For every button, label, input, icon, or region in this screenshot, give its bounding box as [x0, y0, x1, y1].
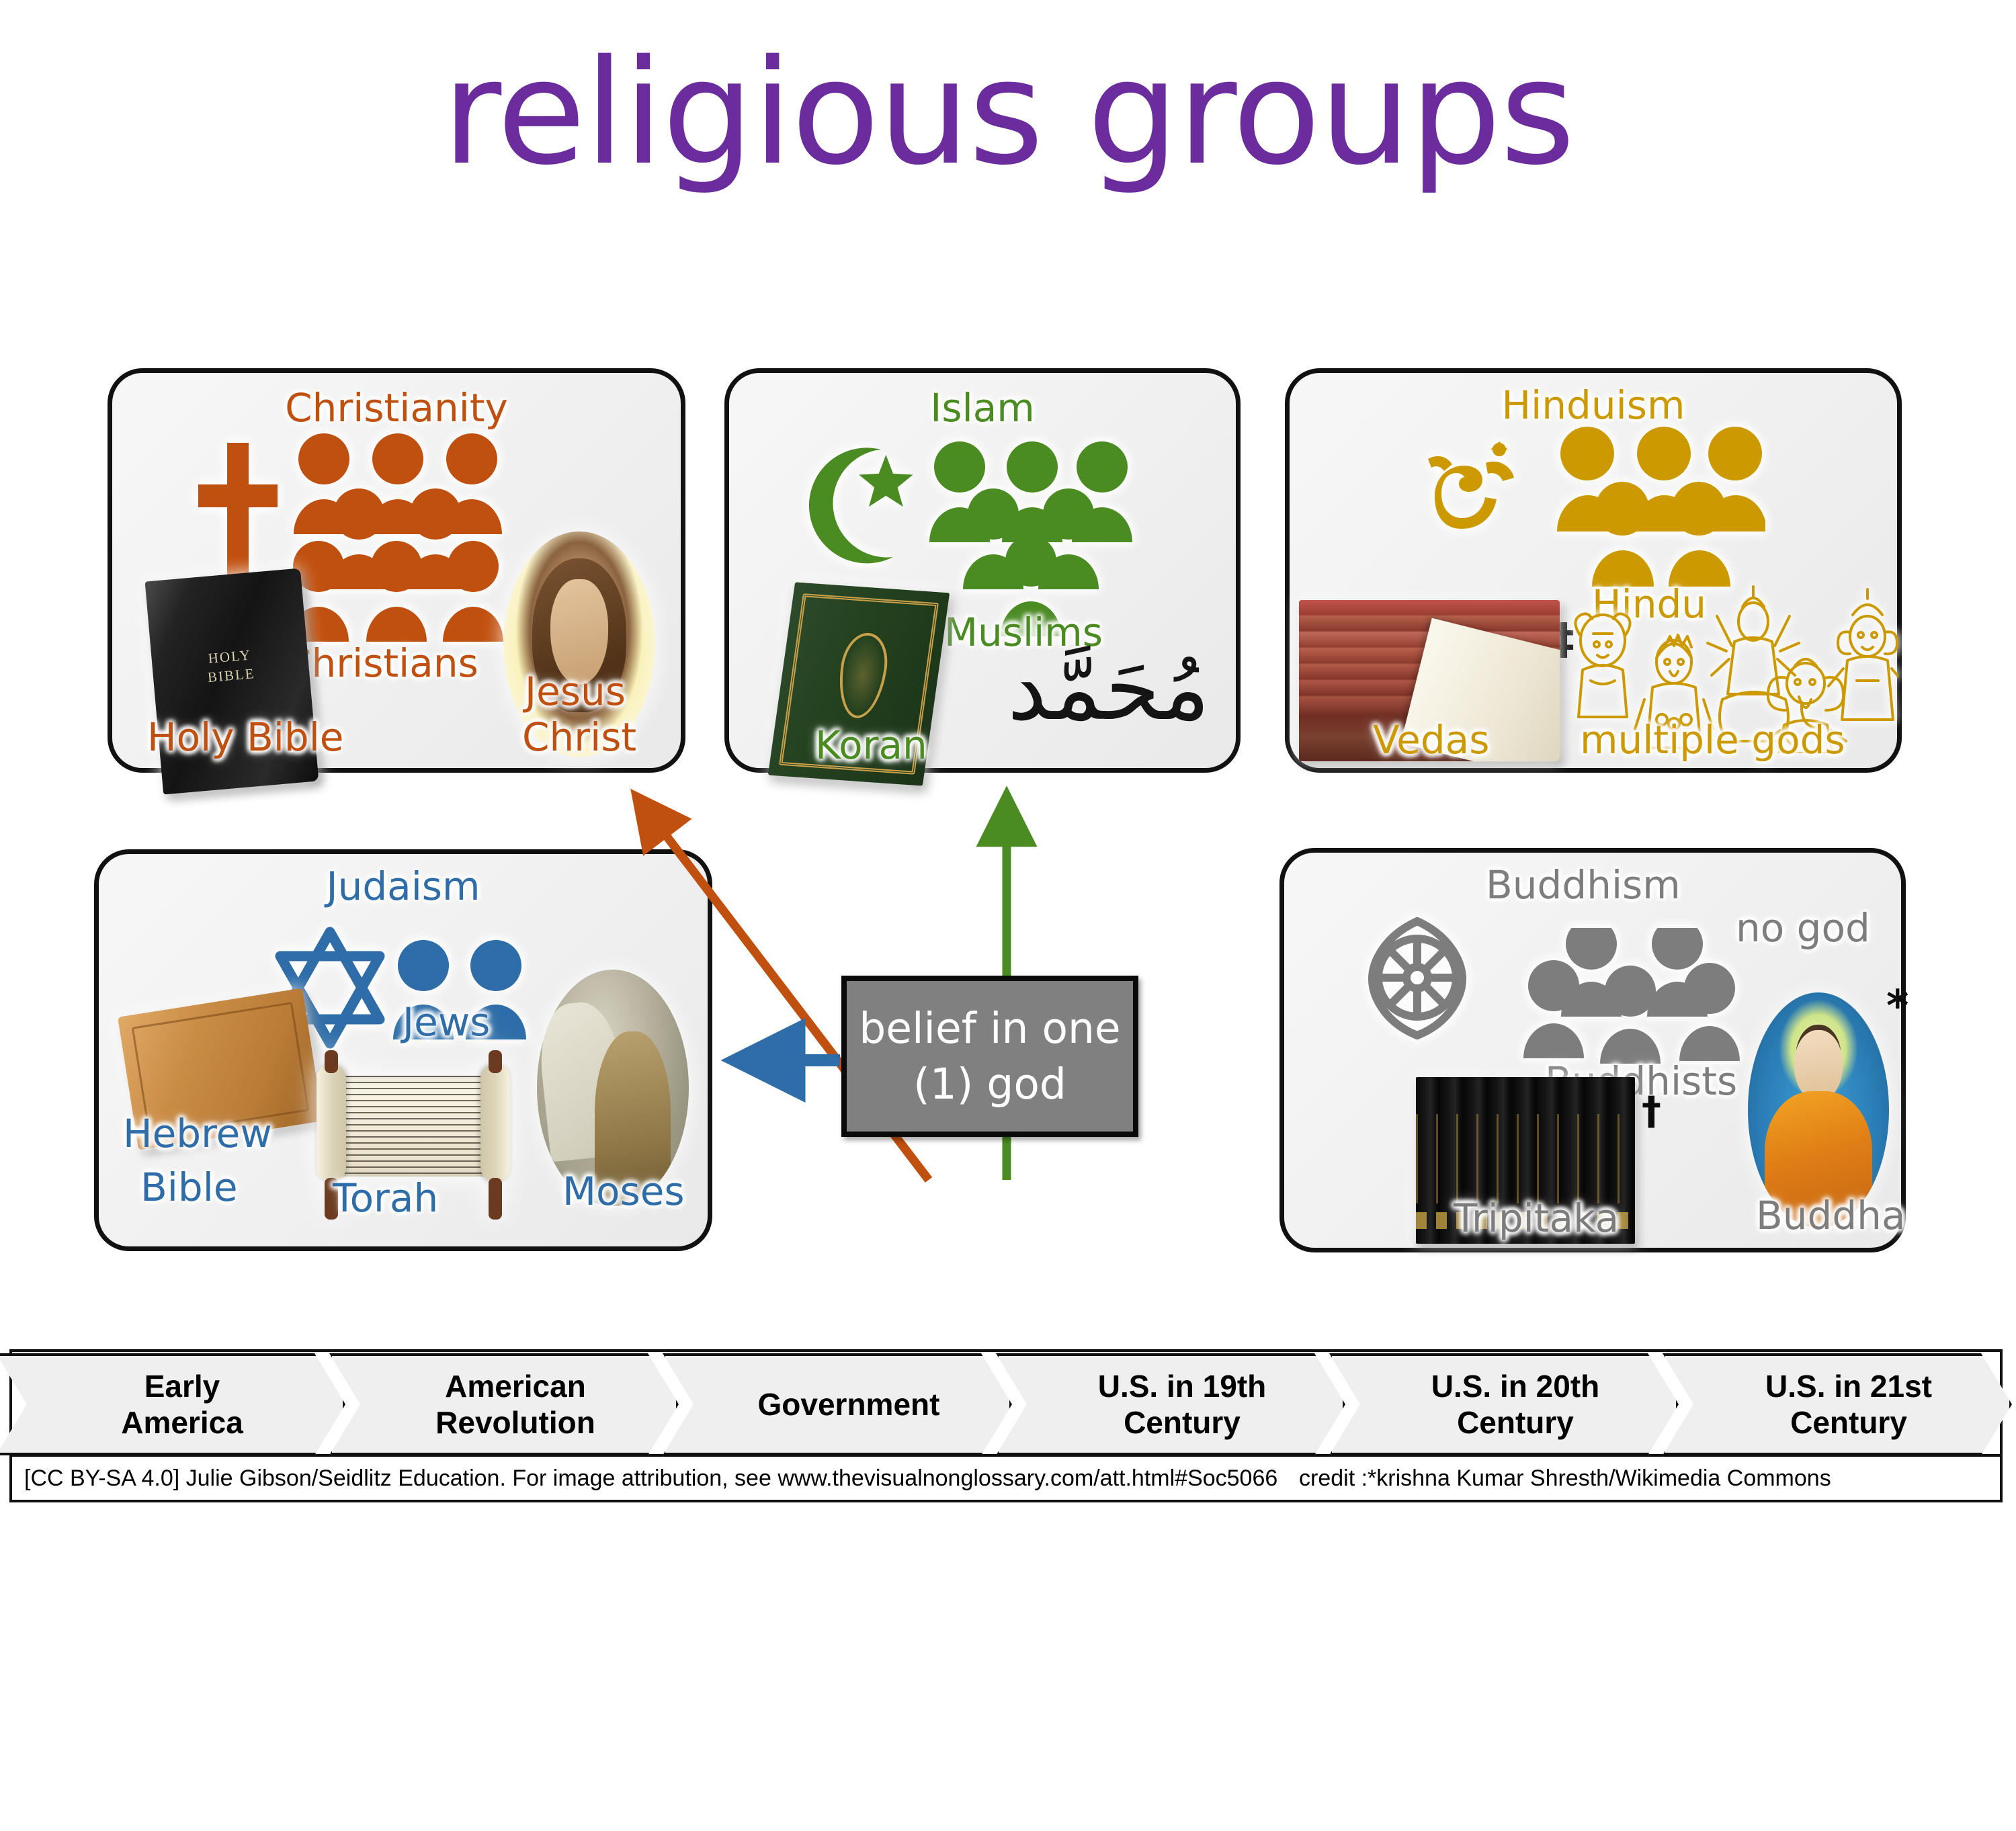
- nav-step-early-america[interactable]: Early America: [0, 1353, 345, 1455]
- card-title-christianity: Christianity: [285, 385, 508, 431]
- nav-step-us-19th-century[interactable]: U.S. in 19th Century: [996, 1353, 1345, 1455]
- nav-step-government[interactable]: Government: [663, 1353, 1012, 1455]
- item-label-buddha: Buddha: [1756, 1193, 1905, 1238]
- nav-step-us-21st-century[interactable]: U.S. in 21st Century: [1663, 1353, 2012, 1455]
- card-title-hinduism: Hinduism: [1502, 382, 1685, 428]
- footer-overlap-credit: credit :*krishna Kumar Shresth/Wikimedia…: [1299, 1465, 1831, 1492]
- nav-step-label-line1: Government: [758, 1386, 940, 1422]
- nav-step-label-line1: U.S. in 19th: [1098, 1368, 1266, 1404]
- item-label-moses: Moses: [562, 1168, 685, 1214]
- muhammad-calligraphy: مُحَمَّد: [1007, 644, 1210, 733]
- card-title-buddhism: Buddhism: [1486, 862, 1681, 908]
- callout-belief-in-one-god[interactable]: belief in one (1) god: [841, 976, 1138, 1137]
- item-label-multiple-gods: multiple gods: [1580, 717, 1845, 763]
- nav-step-label-line2: Century: [1765, 1404, 1932, 1441]
- star-and-crescent-icon: [808, 437, 923, 572]
- breadcrumb-nav-strip: Early America American Revolution Govern…: [9, 1349, 2003, 1457]
- card-title-judaism: Judaism: [326, 863, 480, 909]
- people-group-icon-christianity: [287, 432, 509, 647]
- nav-step-label-line2: America: [121, 1404, 243, 1441]
- dharma-wheel-icon: [1359, 917, 1475, 1039]
- people-group-icon-hinduism: [1550, 425, 1765, 600]
- nav-step-label-line2: Century: [1431, 1404, 1599, 1441]
- tripitaka-dagger-marker: †: [1642, 1088, 1661, 1134]
- side-credit-text: Credit : †喂頭べさ, ‡Preethi1830790/Wikimedi…: [2012, 1238, 2016, 1830]
- bible-cover-text: HOLYBIBLE: [151, 640, 310, 692]
- buddha-asterisk-marker: *: [1886, 982, 1908, 1031]
- card-title-islam: Islam: [930, 385, 1034, 431]
- card-islam[interactable]: Islam Muslims Koran مُحَمَّد: [724, 368, 1241, 773]
- item-label-tripitaka: Tripitaka: [1454, 1195, 1619, 1241]
- item-label-koran: Koran: [815, 722, 927, 768]
- nav-step-label-line2: Century: [1098, 1404, 1266, 1441]
- nav-step-label-line1: U.S. in 21st: [1765, 1368, 1932, 1404]
- nav-step-label-line1: American: [435, 1368, 595, 1404]
- latin-cross-icon: [198, 443, 278, 583]
- item-label-hebrew-line2: Bible: [140, 1164, 238, 1210]
- nav-step-american-revolution[interactable]: American Revolution: [329, 1353, 679, 1455]
- black-bible-photo: HOLYBIBLE: [145, 568, 319, 794]
- no-god-note: no god: [1736, 905, 1870, 951]
- nav-step-us-20th-century[interactable]: U.S. in 20th Century: [1329, 1353, 1679, 1455]
- om-icon: [1421, 439, 1522, 558]
- page-title: religious groups: [0, 40, 2016, 185]
- item-label-jesus-line1: Jesus: [525, 669, 626, 714]
- callout-line-1: belief in one: [859, 1000, 1120, 1056]
- people-label-christians: Christians: [284, 640, 478, 686]
- nav-step-label-line1: Early: [121, 1368, 243, 1404]
- card-judaism[interactable]: Judaism Jews Hebrew Bible Torah: [94, 849, 712, 1251]
- nav-step-label-line1: U.S. in 20th: [1431, 1368, 1599, 1404]
- footer-license-credit: [CC BY-SA 4.0] Julie Gibson/Seidlitz Edu…: [12, 1465, 1277, 1492]
- card-hinduism[interactable]: Hinduism Hindu ‡ Vedas: [1285, 368, 1902, 773]
- card-christianity[interactable]: Christianity Christians HOLYBIBLE Holy B…: [108, 368, 685, 773]
- item-label-vedas: Vedas: [1373, 717, 1489, 763]
- item-label-holy-bible: Holy Bible: [147, 714, 344, 760]
- callout-line-2: (1) god: [913, 1056, 1066, 1112]
- item-label-torah: Torah: [333, 1175, 438, 1221]
- people-label-jews: Jews: [403, 999, 490, 1045]
- item-label-jesus-line2: Christ: [522, 714, 636, 760]
- footer-credit-bar: [CC BY-SA 4.0] Julie Gibson/Seidlitz Edu…: [9, 1457, 2003, 1502]
- card-buddhism[interactable]: Buddhism no god Bu: [1279, 848, 1906, 1252]
- nav-step-label-line2: Revolution: [435, 1404, 595, 1441]
- item-label-hebrew-line1: Hebrew: [123, 1111, 272, 1156]
